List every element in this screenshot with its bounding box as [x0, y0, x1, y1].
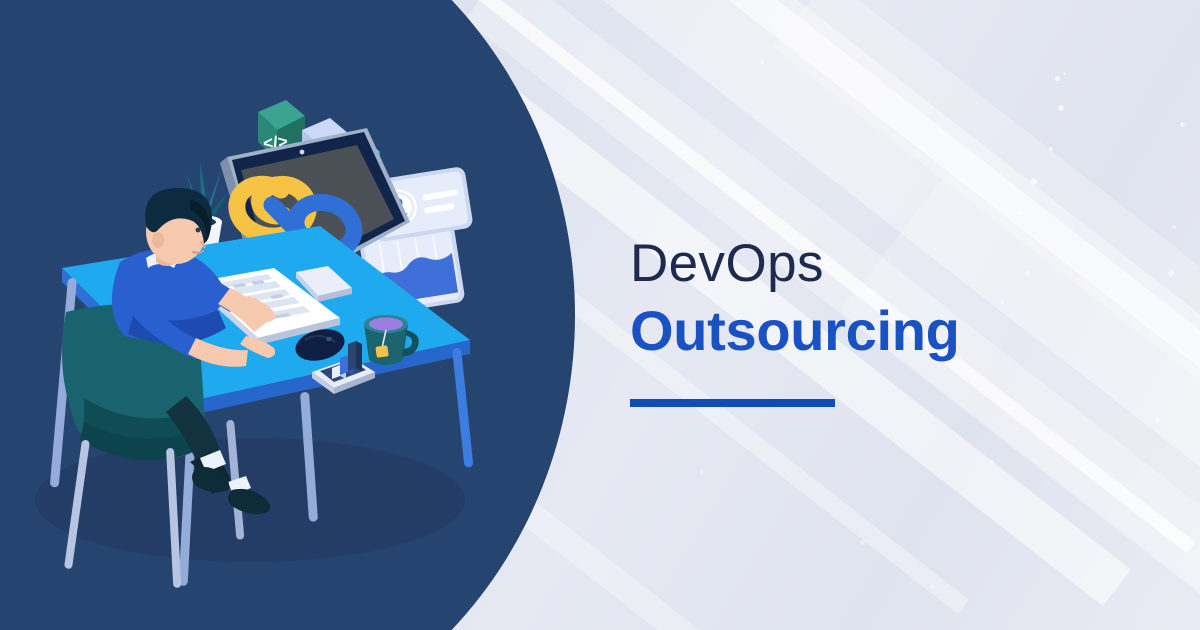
- devops-illustration: </>: [0, 0, 580, 630]
- accent-underline-bar: [630, 399, 835, 407]
- headline-line-2: Outsourcing: [630, 300, 1150, 363]
- headline-line-1: DevOps: [630, 236, 1150, 292]
- headline-block: DevOps Outsourcing: [630, 236, 1150, 407]
- banner-root: </>: [0, 0, 1200, 630]
